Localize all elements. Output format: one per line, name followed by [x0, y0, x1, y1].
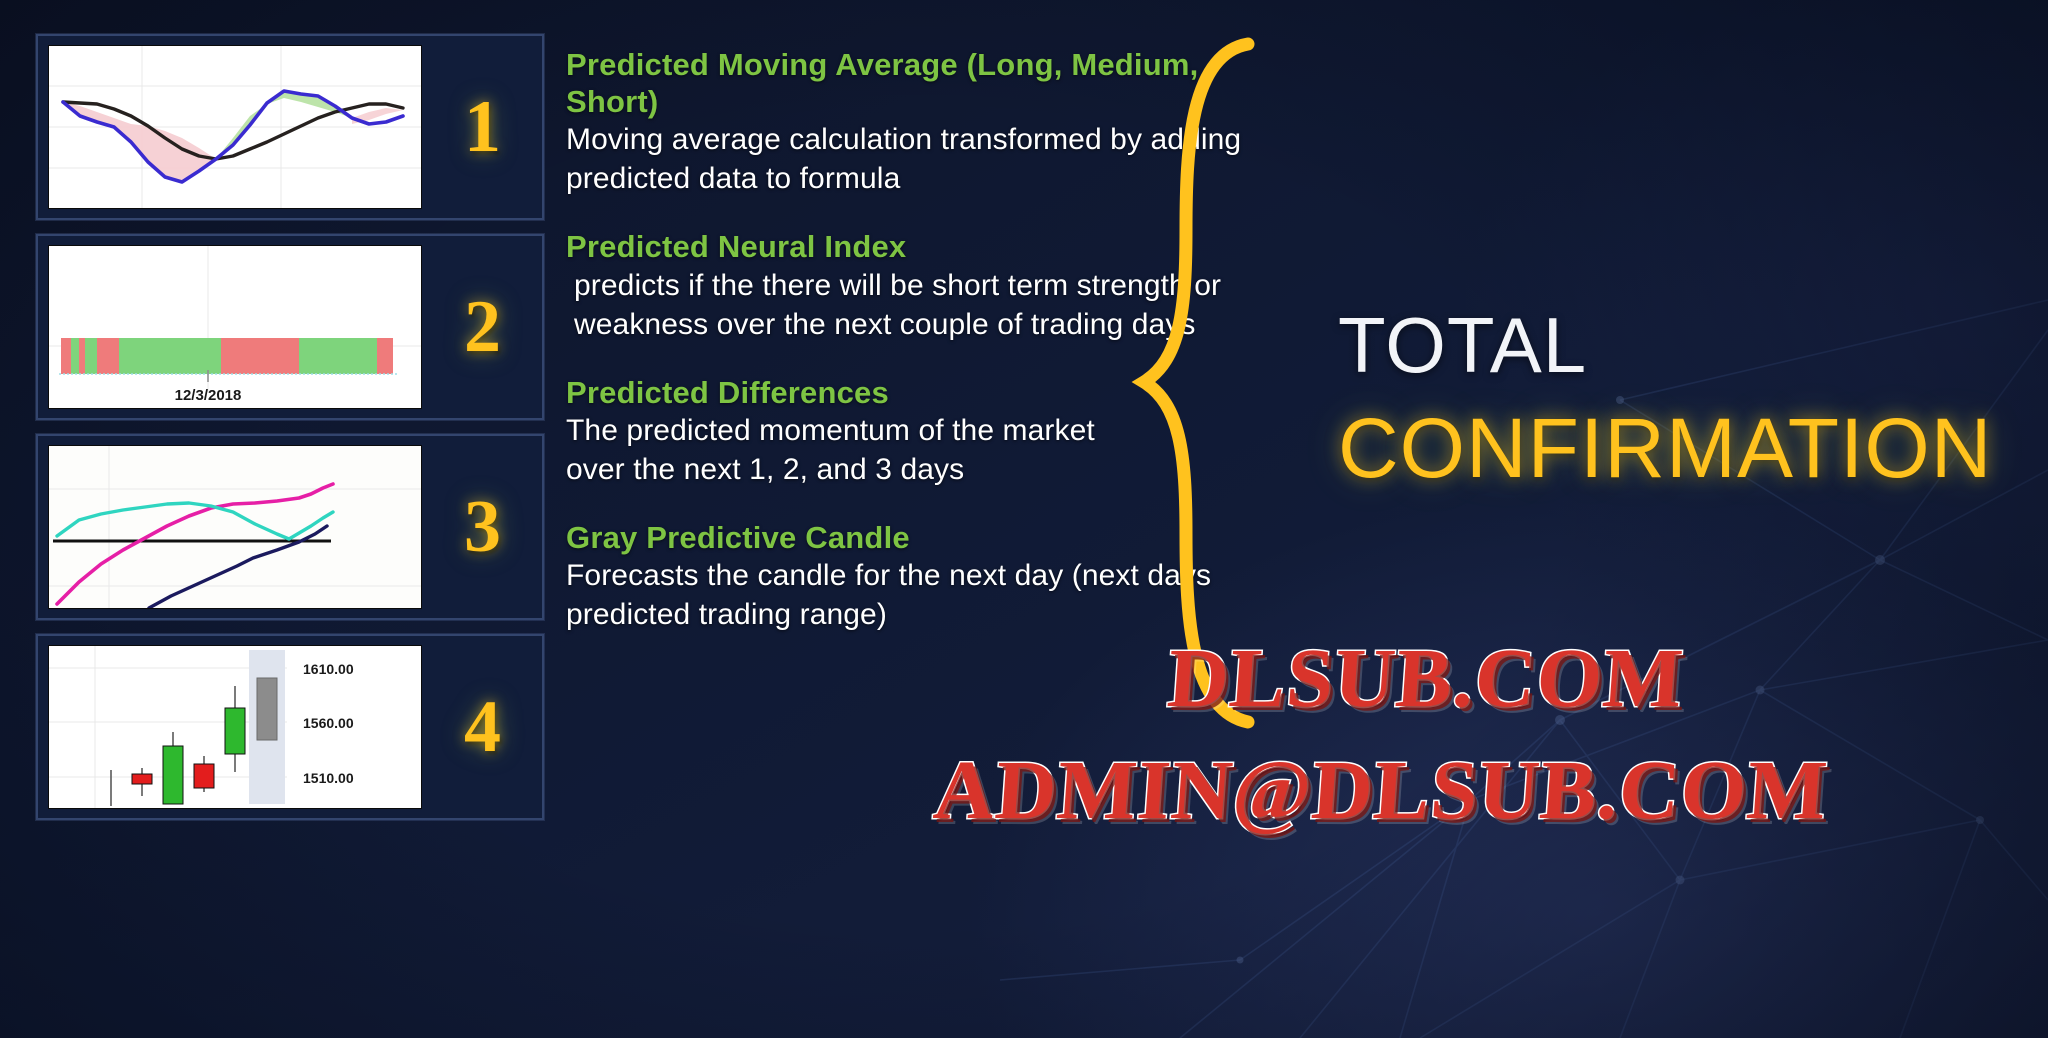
item-number-1: 1: [422, 90, 542, 164]
thumbnail-row-2[interactable]: 12/3/2018 2: [36, 234, 544, 420]
headline-total: TOTAL: [1338, 300, 1587, 391]
thumbnail-row-3[interactable]: 3: [36, 434, 544, 620]
chart-neural-index: 12/3/2018: [48, 245, 422, 409]
watermark-email: ADMIN@DLSUB.COM: [931, 742, 1831, 839]
neural-index-bars: [61, 338, 393, 374]
thumbnail-row-4[interactable]: 1610.00 1560.00 1510.00 4: [36, 634, 544, 820]
neural-index-date-label: 12/3/2018: [175, 387, 242, 404]
item-number-4: 4: [422, 690, 542, 764]
chart-moving-average: [48, 45, 422, 209]
headline-confirmation: CONFIRMATION: [1338, 400, 1992, 497]
feature-body-3: The predicted momentum of the market ove…: [566, 411, 1146, 489]
thumbnail-row-1[interactable]: 1: [36, 34, 544, 220]
item-number-3: 3: [422, 490, 542, 564]
neural-index-plot: 12/3/2018: [49, 246, 421, 408]
item-number-2: 2: [422, 290, 542, 364]
price-tick-1610: 1610.00: [303, 661, 354, 677]
chart-thumbnail-column: 1: [36, 34, 544, 834]
chart-candles: 1610.00 1560.00 1510.00: [48, 645, 422, 809]
moving-average-plot: [49, 46, 421, 208]
price-tick-1560: 1560.00: [303, 715, 354, 731]
chart-differences: [48, 445, 422, 609]
differences-plot: [49, 446, 421, 608]
watermark-site: DLSUB.COM: [1165, 630, 1687, 727]
candle-predicted: [257, 678, 277, 740]
candlestick-plot: 1610.00 1560.00 1510.00: [49, 646, 421, 808]
price-tick-1510: 1510.00: [303, 770, 354, 786]
